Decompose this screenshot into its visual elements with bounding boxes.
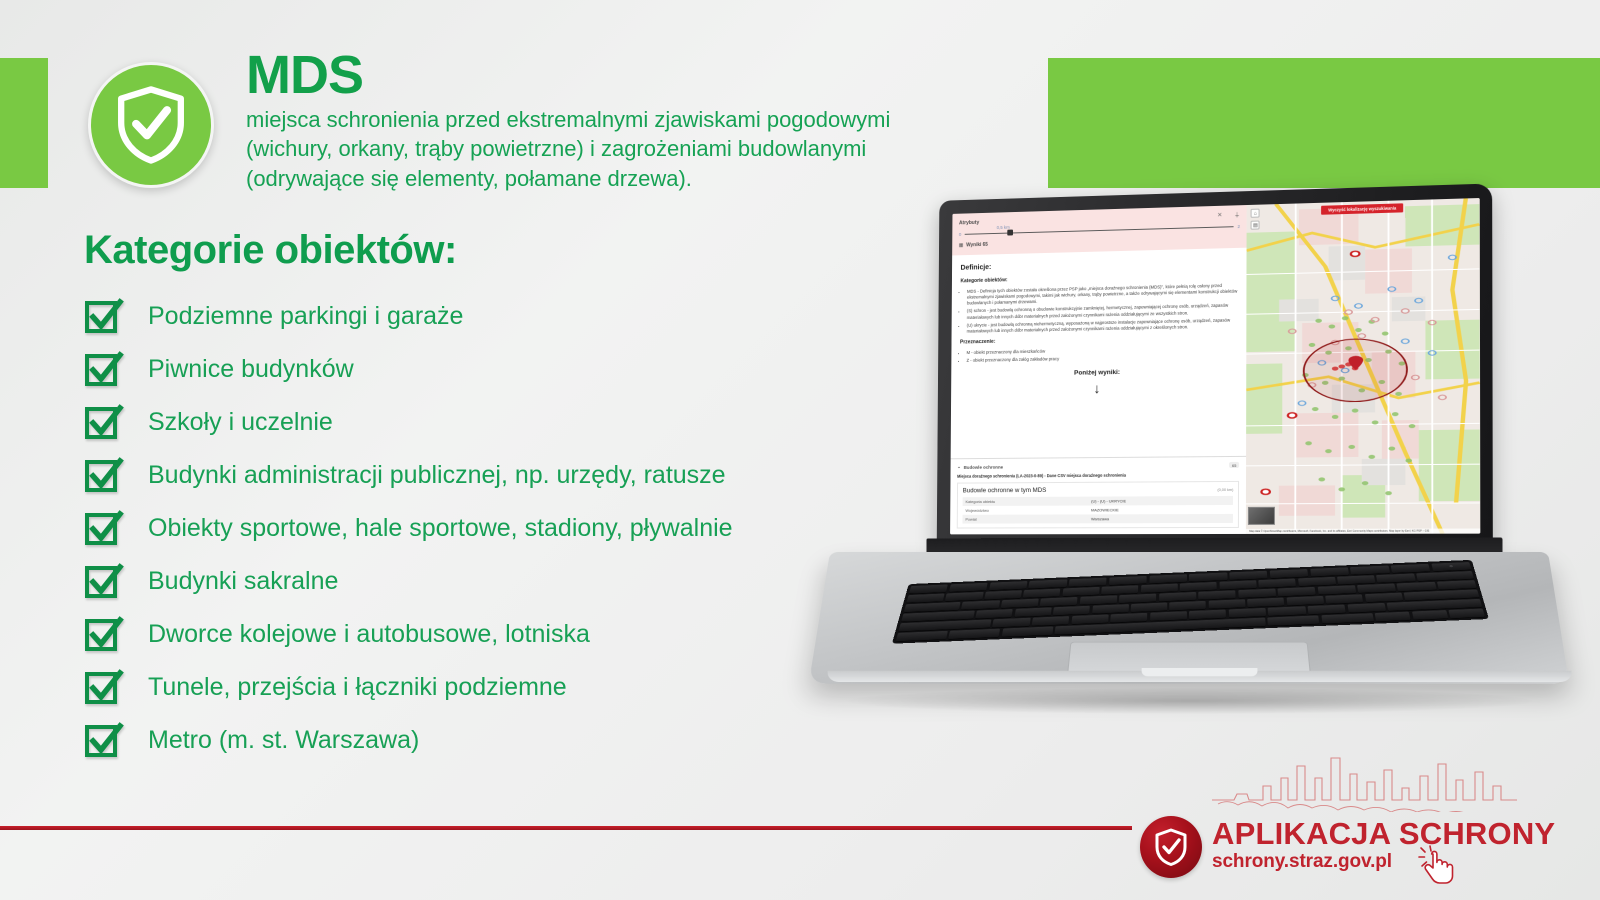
results-source: Miejsca doraźnego schronienia (LA-2023-0… <box>957 472 1239 479</box>
key[interactable] <box>1092 604 1129 613</box>
brand-badge-circle <box>88 62 214 188</box>
list-item-label: Budynki sakralne <box>148 567 338 596</box>
checkbox-checked-icon <box>84 297 124 337</box>
key[interactable] <box>909 584 948 593</box>
key[interactable] <box>1189 572 1227 581</box>
feature-title: Budowle ochronne w tym MDS <box>963 487 1047 494</box>
brand-badge <box>88 62 214 188</box>
arrow-right-key[interactable] <box>1448 609 1485 618</box>
layer-name: Budowle ochronne <box>964 464 1003 469</box>
logo-shield-badge <box>1140 816 1202 878</box>
checkbox-checked-icon <box>84 509 124 549</box>
slider-handle[interactable] <box>1007 230 1013 236</box>
feature-panel[interactable]: Budowle ochronne w tym MDS (0,00 km) Kat… <box>957 481 1240 529</box>
key[interactable] <box>1119 594 1156 603</box>
laptop-base: ⏻ <box>820 538 1560 710</box>
key[interactable] <box>961 600 999 609</box>
slider-value-label: 0,5 km <box>997 225 1010 230</box>
list-item-label: Piwnice budynków <box>148 355 354 384</box>
list-item-label: Tunele, przejścia i łączniki podziemne <box>148 673 567 702</box>
app-panel: Atrybuty ✕ ⏚ 0 0,5 km 2 <box>950 205 1247 534</box>
slider-max-label: 2 <box>1238 224 1240 229</box>
hand-click-icon <box>1418 844 1460 888</box>
key[interactable] <box>1238 589 1276 598</box>
key[interactable] <box>984 590 1022 599</box>
delete-key[interactable] <box>1416 571 1474 581</box>
attr-label: Powiat <box>962 514 1088 523</box>
key[interactable] <box>1317 585 1356 594</box>
laptop-front-lip <box>826 671 1573 682</box>
divider <box>0 826 1132 830</box>
key[interactable] <box>1071 615 1108 624</box>
table-row: Powiat Warszawa <box>962 514 1233 524</box>
definitions-document: Definicje: Kategorie obiektów: MDS - Def… <box>951 248 1247 459</box>
map-attribution: Map data © OpenStreetMap contributors, M… <box>1246 529 1480 534</box>
arrow-left-key[interactable] <box>1375 612 1411 622</box>
key[interactable] <box>1170 601 1207 610</box>
key[interactable] <box>1247 598 1284 607</box>
arrow-updown-key[interactable] <box>1412 610 1448 620</box>
key[interactable] <box>1337 575 1375 584</box>
key[interactable] <box>1270 569 1309 578</box>
key[interactable] <box>1298 577 1336 586</box>
page-subtitle: miejsca schronienia przed ekstremalnymi … <box>246 105 1026 193</box>
shield-check-icon <box>1154 828 1188 866</box>
slider-track[interactable]: 0,5 km <box>965 226 1234 235</box>
map-overview-inset[interactable] <box>1248 507 1275 525</box>
checkbox-checked-icon <box>84 615 124 655</box>
key[interactable] <box>1110 613 1147 622</box>
feature-distance: (0,00 km) <box>1217 488 1233 492</box>
checkbox-checked-icon <box>84 721 124 761</box>
arrow-down-icon: ↓ <box>960 379 1238 397</box>
key[interactable] <box>1308 605 1346 614</box>
laptop-lid: Atrybuty ✕ ⏚ 0 0,5 km 2 <box>937 183 1493 550</box>
key[interactable] <box>1325 594 1363 603</box>
key[interactable] <box>1268 606 1306 615</box>
list-item-label: Podziemne parkingi i garaże <box>148 302 463 331</box>
key[interactable] <box>1391 564 1431 573</box>
chevron-down-icon[interactable]: ⌄ <box>957 464 961 470</box>
results-count-label: Wyniki 65 <box>966 242 988 248</box>
key[interactable] <box>945 592 983 601</box>
doc-heading: Definicje: <box>961 256 1238 273</box>
footer-logo-title: APLIKACJA SCHRONY <box>1212 816 1555 852</box>
key[interactable] <box>976 609 1013 618</box>
key[interactable] <box>1357 584 1396 593</box>
key[interactable] <box>1209 599 1246 608</box>
option-key-right[interactable] <box>1321 613 1374 623</box>
key[interactable] <box>1364 593 1402 602</box>
key[interactable] <box>1141 584 1178 593</box>
layers-icon[interactable]: ▤ <box>1251 221 1260 230</box>
categories-heading: Kategorie obiektów: <box>84 228 457 273</box>
laptop-notch <box>1141 668 1257 676</box>
key[interactable] <box>1014 608 1051 617</box>
key[interactable] <box>906 594 944 603</box>
key[interactable] <box>949 583 988 592</box>
key[interactable] <box>1278 587 1316 596</box>
command-key-left[interactable] <box>1002 627 1054 637</box>
key[interactable] <box>992 618 1030 627</box>
key[interactable] <box>1023 589 1061 598</box>
key[interactable] <box>1080 595 1118 604</box>
doc-bullet-list: MDS - Definicja tych obiektów została ok… <box>967 282 1238 335</box>
checkbox-checked-icon <box>84 350 124 390</box>
key[interactable] <box>1347 603 1386 612</box>
key[interactable] <box>1376 574 1415 583</box>
key[interactable] <box>1001 599 1039 608</box>
key[interactable] <box>1229 608 1267 617</box>
home-icon[interactable]: ⌂ <box>1251 209 1260 218</box>
key[interactable] <box>1062 587 1099 596</box>
key[interactable] <box>989 581 1028 590</box>
command-key-right[interactable] <box>1268 616 1320 626</box>
checkbox-checked-icon <box>84 403 124 443</box>
map-panel[interactable]: Wyczyść lokalizację wyszukiwania ⌂ ▤ Map… <box>1246 198 1480 534</box>
list-item-label: Budynki administracji publicznej, np. ur… <box>148 461 726 490</box>
filter-icon[interactable]: ⏚ <box>1234 210 1240 219</box>
checkbox-checked-icon <box>84 562 124 602</box>
list-item-label: Obiekty sportowe, hale sportowe, stadion… <box>148 514 733 543</box>
laptop-screen: Atrybuty ✕ ⏚ 0 0,5 km 2 <box>950 198 1480 534</box>
doc-purpose-list: M - obiekt przeznaczony dla mieszkańców … <box>966 345 1237 364</box>
page-title: MDS <box>246 48 1026 103</box>
decor-green-block-right <box>1048 58 1600 188</box>
list-item-label: Dworce kolejowe i autobusowe, lotniska <box>148 620 590 649</box>
key[interactable] <box>1053 606 1090 615</box>
key[interactable] <box>1189 610 1226 619</box>
checkbox-checked-icon <box>84 456 124 496</box>
key[interactable] <box>1131 603 1168 612</box>
laptop-shadow <box>848 688 1532 714</box>
radius-slider[interactable]: 0 0,5 km 2 <box>959 224 1240 237</box>
laptop-mockup: Atrybuty ✕ ⏚ 0 0,5 km 2 <box>820 190 1560 760</box>
attr-value: MAZOWIECKIE <box>1088 505 1233 514</box>
list-item-label: Metro (m. st. Warszawa) <box>148 726 419 755</box>
grid-icon: ▦ <box>959 243 964 249</box>
subtitle-line-3: (odrywające się elementy, połamane drzew… <box>246 164 1026 193</box>
key[interactable] <box>1040 597 1078 606</box>
key[interactable] <box>1180 582 1217 591</box>
attr-value: Warszawa <box>1088 514 1233 523</box>
key[interactable] <box>1101 585 1138 594</box>
footer-logo: APLIKACJA SCHRONY schrony.straz.gov.pl <box>1130 748 1570 888</box>
option-key-left[interactable] <box>949 629 1001 639</box>
key[interactable] <box>1437 580 1477 589</box>
power-key[interactable]: ⏻ <box>1431 562 1471 571</box>
key[interactable] <box>1219 580 1256 589</box>
key[interactable] <box>1350 566 1390 575</box>
key[interactable] <box>1310 567 1349 576</box>
key[interactable] <box>1198 590 1235 599</box>
attributes-title: Atrybuty <box>959 219 979 225</box>
key[interactable] <box>1229 571 1267 580</box>
laptop-keyboard[interactable]: ⏻ <box>892 560 1489 644</box>
key[interactable] <box>1109 576 1147 585</box>
slider-min-label: 0 <box>959 232 961 237</box>
list-item-label: Szkoły i uczelnie <box>148 408 333 437</box>
footer-logo-url[interactable]: schrony.straz.gov.pl <box>1212 851 1392 873</box>
key[interactable] <box>1150 611 1187 620</box>
attr-label: Województwo <box>963 506 1089 515</box>
key[interactable] <box>1032 616 1070 625</box>
subtitle-line-1: miejsca schronienia przed ekstremalnymi … <box>246 105 1026 134</box>
feature-attribute-table: Kategoria obiektu (U) - (U) - UKRYCIE Wo… <box>962 496 1233 524</box>
close-icon[interactable]: ✕ <box>1217 212 1222 219</box>
control-key[interactable] <box>896 631 948 641</box>
key[interactable] <box>1149 574 1187 583</box>
key[interactable] <box>1159 592 1196 601</box>
shield-check-icon <box>114 86 188 164</box>
laptop-body: ⏻ <box>809 552 1570 684</box>
subtitle-line-2: (wichury, orkany, trąby powietrzne) i za… <box>246 134 1026 163</box>
header-block: MDS miejsca schronienia przed ekstremaln… <box>246 48 1026 193</box>
status-badge: 65 <box>1229 462 1239 468</box>
results-card: ⌄ Budowle ochronne 65 Miejsca doraźnego … <box>950 456 1246 535</box>
results-heading: Poniżej wyniki: <box>960 366 1238 380</box>
map-canvas[interactable] <box>1246 198 1480 534</box>
tab-key[interactable] <box>904 602 961 612</box>
key[interactable] <box>1029 579 1068 588</box>
key[interactable] <box>1258 579 1296 588</box>
checkbox-checked-icon <box>84 668 124 708</box>
key[interactable] <box>1397 582 1436 591</box>
decor-green-block-left <box>0 58 48 188</box>
key[interactable] <box>1069 578 1107 587</box>
key[interactable] <box>1286 596 1324 605</box>
